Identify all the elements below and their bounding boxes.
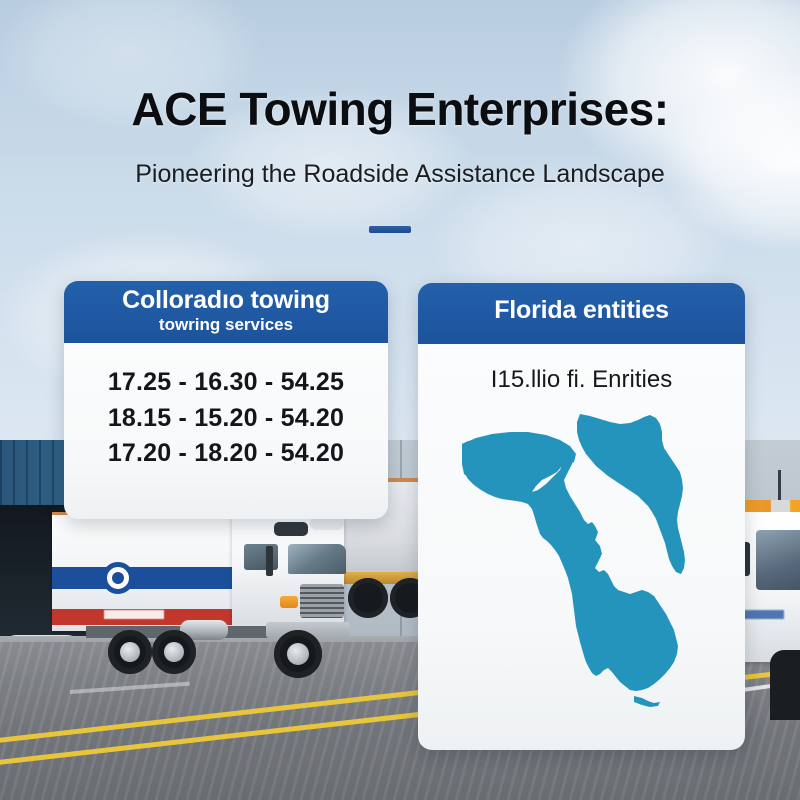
card-right-title: Florida entities — [418, 297, 745, 323]
truck-grille — [300, 584, 344, 618]
truck-stripe-blue — [52, 567, 252, 589]
wheel-hub — [287, 643, 309, 665]
truck-headlight — [280, 596, 298, 608]
card-header-left: Colloradıo towing towring services — [64, 281, 388, 343]
truck-circle-logo — [102, 562, 134, 594]
truck-wheel — [274, 630, 322, 678]
colorado-towing-card[interactable]: Colloradıo towing towring services 17.25… — [64, 281, 388, 519]
page-title: ACE Towing Enterprises: — [0, 82, 800, 136]
white-box-truck — [52, 498, 382, 688]
wheel-hub — [164, 642, 184, 662]
florida-keys-path — [634, 696, 660, 707]
poster-canvas: ACE Towing Enterprises: Pioneering the R… — [0, 0, 800, 800]
truck-windshield — [288, 544, 346, 574]
list-item: 18.15 - 15.20 - 54.20 — [64, 401, 388, 437]
card-body-left: 17.25 - 16.30 - 54.25 18.15 - 15.20 - 54… — [64, 343, 388, 519]
truck-wheel — [108, 630, 152, 674]
wheel-hub — [120, 642, 140, 662]
card-body-right: I15.llio fi. Enrities — [418, 344, 745, 750]
card-left-subtitle: towring services — [64, 315, 388, 335]
map-caption: I15.llio fi. Enrities — [418, 366, 745, 394]
page-subtitle: Pioneering the Roadside Assistance Lands… — [0, 160, 800, 189]
tow-fender — [770, 650, 800, 720]
list-item: 17.20 - 18.20 - 54.20 — [64, 436, 388, 472]
truck-sleeper-window — [274, 522, 308, 536]
truck-livery-text — [104, 610, 164, 619]
card-header-right: Florida entities — [418, 283, 745, 344]
card-left-title: Colloradıo towing — [64, 287, 388, 313]
florida-state-map — [462, 414, 712, 714]
title-divider — [369, 226, 411, 233]
truck-side-mirror — [266, 546, 273, 576]
florida-entities-card[interactable]: Florida entities I15.llio fi. Enrities — [418, 283, 745, 750]
tow-truck-window — [756, 530, 800, 590]
truck-cargo-box — [52, 512, 252, 631]
truck-wheel — [152, 630, 196, 674]
list-item: 17.25 - 16.30 - 54.25 — [64, 365, 388, 401]
